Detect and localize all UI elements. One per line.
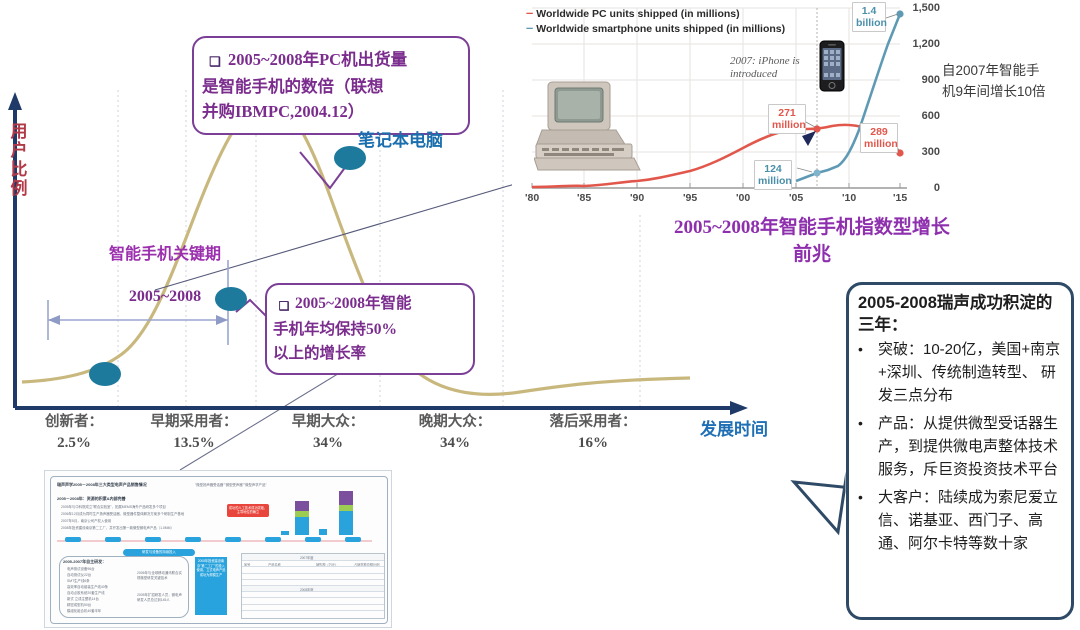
- thumb-table-year: 2007年度: [300, 555, 313, 560]
- thumb-item: 精密成型机50台: [67, 603, 91, 608]
- callout-line: 是智能手机的数倍（联想: [202, 74, 458, 99]
- thumb-item: 自动点胶系统20套生产线: [67, 591, 105, 596]
- segment-label: 早期大众：: [292, 414, 365, 430]
- thumb-bullet: 2005年与中科院成立"联合实验室"，拓展MEMS海外产品研发多个项目: [61, 505, 166, 510]
- segment-percent: 34%: [264, 433, 392, 454]
- bullet-icon: ❑: [202, 47, 228, 74]
- segment-percent: 34%: [392, 433, 518, 454]
- thumb-red-callout: 成功的人工技术成功突破，主导地位的确立: [227, 504, 269, 517]
- thumb-blue-callout: 2008年投资建设南京"第二工厂"的投入使用，立式电声产品成功为规模生产: [195, 557, 227, 615]
- x-tick: '10: [842, 192, 856, 204]
- series-smartphone-line: [796, 14, 900, 181]
- list-item-text: 大客户：陆续成为索尼爱立信、诺基亚、西门子、高通、阿尔卡特等数十家: [878, 486, 1062, 555]
- segment-innovators: 创新者： 2.5%: [24, 412, 124, 460]
- marker-sp-124m: [813, 169, 820, 176]
- legend-dash-blue-icon: –: [526, 20, 533, 35]
- callout-line: 2005~2008年PC机出货量: [228, 50, 407, 69]
- thumb-mid-item: 2005年扩招研发人员，微电声研发人员总达到145人: [137, 593, 185, 602]
- segment-early-adopters: 早期采用者： 13.5%: [124, 412, 264, 460]
- bubble-title: 2005-2008瑞声成功积淀的三年：: [858, 292, 1062, 336]
- thumb-band-label: 研发与设备的持续投入: [123, 549, 195, 556]
- thumb-bullet: 2008年投资建设南京第二工厂，并开发出第一款微型微电声产品（1.0MM）: [61, 526, 174, 531]
- segment-late-majority: 晚期大众： 34%: [392, 412, 518, 460]
- label-exponential-growth: 2005~2008年智能手机指数型增长前兆: [672, 214, 952, 268]
- thumb-stacked-bars: [275, 489, 385, 539]
- thumb-bullet: 2007年5月，南京公司产权入使用: [61, 519, 111, 524]
- segment-label: 落后采用者：: [550, 414, 637, 430]
- x-tick: '80: [525, 192, 539, 204]
- label-ten-fold-growth: 自2007年智能手机9年间增长10倍: [942, 60, 1052, 102]
- thumb-item: 电声测试设备96台: [67, 567, 95, 572]
- summary-bubble: 2005-2008瑞声成功积淀的三年： • 突破：10-20亿，美国+南京+深圳…: [846, 282, 1074, 620]
- bullet-dot-icon: •: [858, 412, 878, 435]
- list-item: • 突破：10-20亿，美国+南京+深圳、传统制造转型、 研发三点分布: [858, 338, 1062, 407]
- callout-smartphone-growth: ❑ 2005~2008年智能 手机年均保持50% 以上的增长率: [265, 283, 475, 375]
- annotation-271-million: 271 million: [768, 104, 806, 134]
- thumb-bullet: 2006年12月成为同时生产扬声器受话器，微型器件整体解决方案多个研制生产基地: [61, 512, 184, 517]
- thumb-mid-item: 2006年与全球移动通讯联合实现微型研发关键技术: [137, 571, 185, 580]
- segment-percent: 13.5%: [124, 433, 264, 454]
- x-tick: '95: [683, 192, 697, 204]
- legend-item-pc: –Worldwide PC units shipped (in millions…: [526, 6, 785, 21]
- thumb-section-title: 2005－2008年：资源的积累&内部完善: [57, 496, 126, 501]
- legend-label: Worldwide PC units shipped (in millions): [536, 8, 739, 20]
- list-item: • 产品：从提供微型受话器生产，到提供微电声整体技术服务，斥巨资投资技术平台: [858, 412, 1062, 481]
- y-tick: 600: [900, 110, 940, 122]
- callout-line: 手机年均保持50%: [273, 318, 465, 342]
- embedded-pc-vs-smartphone-chart: –Worldwide PC units shipped (in millions…: [512, 0, 942, 213]
- segment-laggards: 落后采用者： 16%: [518, 412, 668, 460]
- iphone-illustration: [819, 40, 845, 92]
- label-smartphone-key-period: 智能手机关键期: [95, 243, 235, 266]
- x-tick: '15: [893, 192, 907, 204]
- annotation-iphone-introduced: 2007: iPhone is introduced: [730, 55, 812, 81]
- thumb-item: 模组化组合机40套半年: [67, 609, 101, 614]
- legend-label: Worldwide smartphone units shipped (in m…: [536, 23, 785, 35]
- bullet-dot-icon: •: [858, 338, 878, 361]
- callout-line: 以上的增长率: [273, 342, 465, 366]
- y-tick: 1,500: [900, 2, 940, 14]
- bubble-list: • 突破：10-20亿，美国+南京+深圳、传统制造转型、 研发三点分布 • 产品…: [858, 338, 1062, 555]
- bullet-dot-icon: •: [858, 486, 878, 509]
- thumb-note: "微型扬声器受话器""微型受声器""微型声学产品": [195, 483, 267, 488]
- annotation-289-million: 289 million: [860, 123, 898, 153]
- thumb-left-box-title: 2005-2007年自主研发：: [63, 559, 106, 564]
- segment-percent: 16%: [518, 433, 668, 454]
- x-tick: '85: [577, 192, 591, 204]
- segment-label: 早期采用者：: [151, 414, 238, 430]
- segment-label: 晚期大众：: [419, 414, 492, 430]
- chart-legend: –Worldwide PC units shipped (in millions…: [526, 6, 785, 36]
- segment-percent: 2.5%: [24, 433, 124, 454]
- callout-line: 并购IBMPC,2004.12）: [202, 99, 458, 124]
- x-tick: '90: [630, 192, 644, 204]
- thumb-item: 高效率自动组装生产线40条: [67, 585, 108, 590]
- y-tick: 900: [900, 74, 940, 86]
- thumb-item: SMT生产线6条: [67, 579, 90, 584]
- thumb-title: 瑞声声学2005－2008年三大类型电声产品销售情况: [57, 482, 147, 487]
- bullet-icon: ❑: [273, 292, 295, 318]
- segment-early-majority: 早期大众： 34%: [264, 412, 392, 460]
- legend-dash-red-icon: –: [526, 5, 533, 20]
- adopter-segments: 创新者： 2.5% 早期采用者： 13.5% 早期大众： 34% 晚期大众： 3…: [24, 412, 714, 460]
- legend-item-smartphone: –Worldwide smartphone units shipped (in …: [526, 21, 785, 36]
- annotation-1-4-billion: 1.4 billion: [852, 2, 886, 32]
- annotation-124-million: 124 million: [754, 160, 792, 190]
- y-axis-label: 用户比例: [6, 122, 32, 198]
- retro-computer-illustration: [534, 78, 644, 173]
- thumb-item: 新式 立成注塑机14台: [67, 597, 99, 602]
- thumb-table: 2007年度 序号 产品名称 销售额（万元） 占销售额总额比例 2008年度: [241, 553, 385, 619]
- x-tick: '00: [736, 192, 750, 204]
- y-tick: 1,200: [900, 38, 940, 50]
- list-item-text: 突破：10-20亿，美国+南京+深圳、传统制造转型、 研发三点分布: [878, 338, 1062, 407]
- curve-dot-innovators: [89, 362, 121, 386]
- label-key-period-years: 2005~2008: [95, 288, 235, 306]
- callout-line: 2005~2008年智能: [295, 292, 412, 316]
- embedded-slide-thumbnail: 瑞声声学2005－2008年三大类型电声产品销售情况 "微型扬声器受话器""微型…: [44, 470, 392, 628]
- x-tick: '05: [789, 192, 803, 204]
- thumb-item: 自动测试仪22台: [67, 573, 91, 578]
- list-item-text: 产品：从提供微型受话器生产，到提供微电声整体技术服务，斥巨资投资技术平台: [878, 412, 1062, 481]
- list-item: • 大客户：陆续成为索尼爱立信、诺基亚、西门子、高通、阿尔卡特等数十家: [858, 486, 1062, 555]
- label-notebook-computer: 笔记本电脑: [358, 126, 443, 151]
- thumb-table-row: [242, 610, 384, 616]
- y-tick: 300: [900, 146, 940, 158]
- segment-label: 创新者：: [45, 414, 103, 430]
- callout-pc-shipments: ❑ 2005~2008年PC机出货量 是智能手机的数倍（联想 并购IBMPC,2…: [192, 36, 470, 135]
